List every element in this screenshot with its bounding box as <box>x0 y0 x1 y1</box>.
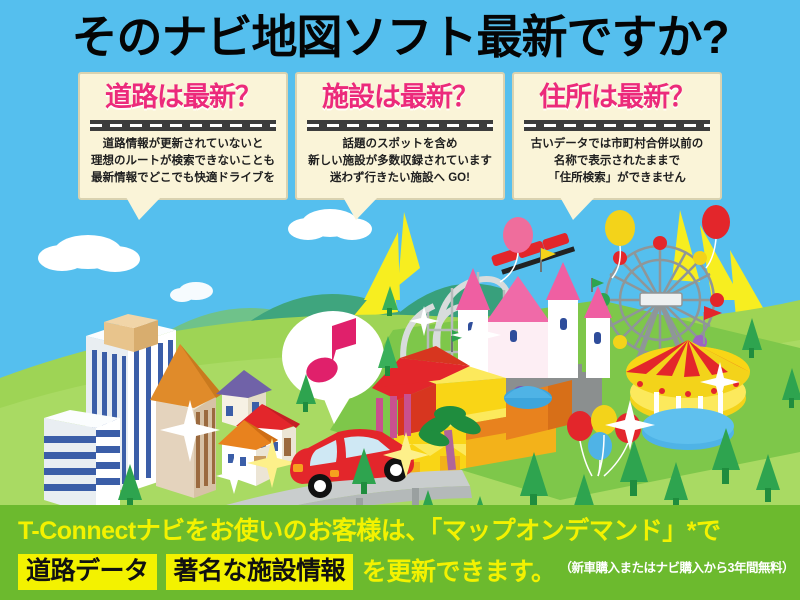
chip-facility-info: 著名な施設情報 <box>166 554 354 590</box>
chip-road-data: 道路データ <box>18 554 157 590</box>
banner-subline: 道路データ 著名な施設情報 を更新できます。 （新車購入またはナビ購入から3年間… <box>18 550 786 590</box>
bottom-banner: T-Connectナビをお使いのお客様は、「マップオンデマンド」*で 道路データ… <box>0 505 800 600</box>
banner-tail-text: を更新できます。 <box>362 554 556 590</box>
callout-title: 施設は最新？ <box>303 80 497 114</box>
road-divider-icon <box>90 120 276 131</box>
banner-footnote: （新車購入またはナビ購入から3年間無料） <box>560 550 794 590</box>
callout-bubble-roads: 道路は最新？ 道路情報が更新されていないと 理想のルートが検索できないことも 最… <box>78 72 288 200</box>
callout-line: 最新情報でどこでも快適ドライブを <box>86 170 280 187</box>
road-divider-icon <box>524 120 710 131</box>
banner-headline: T-Connectナビをお使いのお客様は、「マップオンデマンド」*で <box>18 514 786 548</box>
callout-bubble-address: 住所は最新？ 古いデータでは市町村合併以前の 名称で表示されたままで 「住所検索… <box>512 72 722 200</box>
callout-line: 迷わず行きたい施設へ GO! <box>303 170 497 187</box>
road-divider-icon <box>307 120 493 131</box>
callout-line: 新しい施設が多数収録されています <box>303 153 497 170</box>
callout-title: 住所は最新？ <box>520 80 714 114</box>
callout-line: 道路情報が更新されていないと <box>86 136 280 153</box>
callout-line: 話題のスポットを含め <box>303 136 497 153</box>
office-block <box>44 410 120 516</box>
callout-line: 名称で表示されたままで <box>520 153 714 170</box>
callout-line: 「住所検索」ができません <box>520 170 714 187</box>
callout-title: 道路は最新？ <box>86 80 280 114</box>
page-title: そのナビ地図ソフト最新ですか? <box>0 8 800 66</box>
poster-root: そのナビ地図ソフト最新ですか? 道路は最新？ 道路情報が更新されていないと 理想… <box>0 0 800 600</box>
ferris-wheel-hub <box>640 293 682 306</box>
callout-line: 理想のルートが検索できないことも <box>86 153 280 170</box>
callout-bubble-facilities: 施設は最新？ 話題のスポットを含め 新しい施設が多数収録されています 迷わず行き… <box>295 72 505 200</box>
callout-line: 古いデータでは市町村合併以前の <box>520 136 714 153</box>
